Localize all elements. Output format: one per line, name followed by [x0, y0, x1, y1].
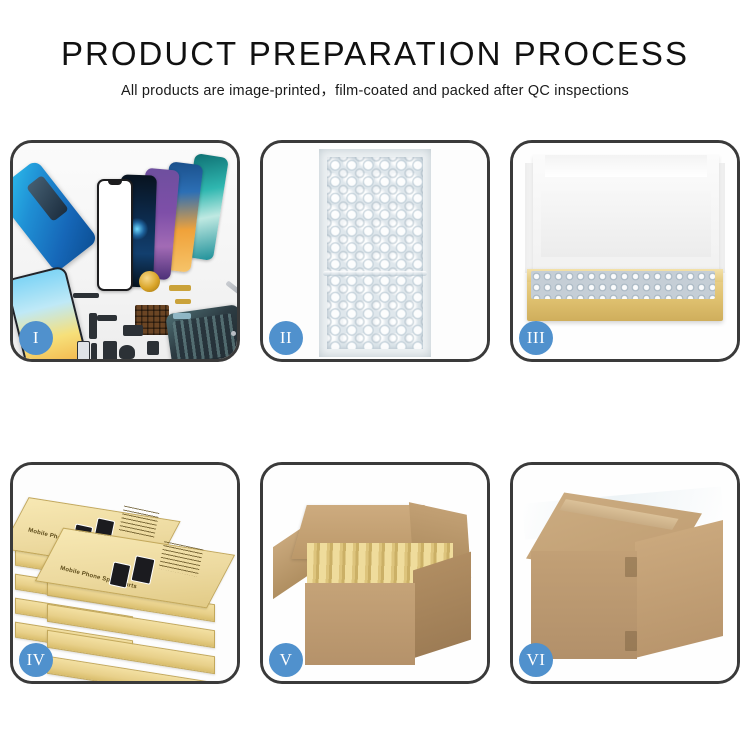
- carton-side-face: [413, 552, 471, 659]
- gold-connector-icon: [169, 285, 191, 291]
- camera-module-icon: [103, 341, 117, 359]
- side-flex-icon: [89, 313, 97, 339]
- process-step-panel-6[interactable]: VI: [510, 462, 740, 684]
- process-step-panel-2[interactable]: II: [260, 140, 490, 362]
- phone-screen-fan-group: [91, 151, 237, 281]
- antenna-flex-icon: [97, 315, 117, 321]
- step-number-badge: VI: [519, 643, 553, 677]
- button-flex-icon: [175, 299, 191, 304]
- page-subtitle: All products are image-printed，film-coat…: [0, 80, 750, 102]
- speaker-icon: [119, 345, 135, 359]
- flex-cable-icon: [73, 293, 99, 298]
- step-number-badge: II: [269, 321, 303, 355]
- carton-front-face: [305, 583, 415, 665]
- process-step-panel-4[interactable]: Mobile Phone Spare Parts Mobile Phone Sp…: [10, 462, 240, 684]
- mailer-inner-wall-icon: [541, 191, 711, 257]
- screwdriver-icon: [225, 280, 237, 306]
- step-number-badge: V: [269, 643, 303, 677]
- bubble-wrap-seam: [323, 271, 427, 276]
- bubble-wrapped-product-icon: [531, 271, 715, 299]
- chip-icon: [147, 341, 159, 355]
- sim-tray-icon: [77, 341, 90, 359]
- process-step-panel-5[interactable]: V: [260, 462, 490, 684]
- process-step-panel-3[interactable]: III: [510, 140, 740, 362]
- screw-icon: [231, 331, 236, 336]
- copper-coil-icon: [139, 271, 160, 292]
- small-cable-icon: [91, 343, 97, 359]
- ribbon-cable-icon: [173, 313, 191, 319]
- carton-handle-notch-icon: [625, 557, 637, 577]
- process-steps-grid: I II III: [10, 140, 740, 684]
- step-number-badge: III: [519, 321, 553, 355]
- spare-parts-cluster: [73, 269, 237, 359]
- page-title: PRODUCT PREPARATION PROCESS: [0, 34, 750, 74]
- bubble-wrap-sheet-icon: [319, 149, 431, 357]
- vibrator-icon: [123, 325, 143, 336]
- step-number-badge: I: [19, 321, 53, 355]
- sealed-carton-front-face: [531, 551, 637, 659]
- carton-handle-notch-icon: [625, 631, 637, 651]
- page-header: PRODUCT PREPARATION PROCESS All products…: [0, 0, 750, 102]
- process-step-panel-1[interactable]: I: [10, 140, 240, 362]
- step-number-badge: IV: [19, 643, 53, 677]
- sealed-carton-side-face: [635, 520, 723, 658]
- bubble-wrap-texture: [327, 157, 423, 349]
